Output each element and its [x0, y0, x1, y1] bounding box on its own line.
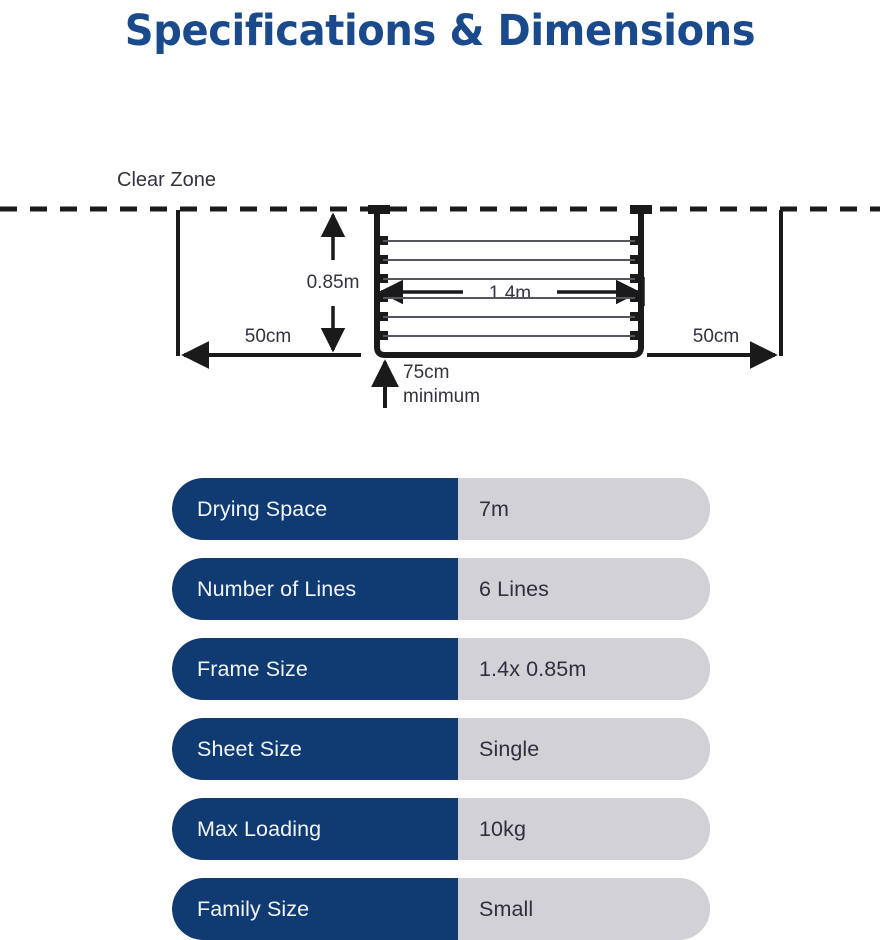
ground-clearance-label-line1: 75cm: [403, 362, 449, 383]
drying-line: [374, 312, 644, 321]
spec-value: Single: [458, 718, 710, 780]
page-title: Specifications & Dimensions: [31, 0, 849, 62]
left-clearance-label: 50cm: [245, 326, 291, 347]
spec-key: Frame Size: [172, 638, 458, 700]
spec-key: Max Loading: [172, 798, 458, 860]
spec-key: Drying Space: [172, 478, 458, 540]
specifications-page: Specifications & Dimensions 1.4m Cl: [0, 0, 880, 940]
spec-value: 6 Lines: [458, 558, 710, 620]
table-row: Family Size Small: [172, 878, 710, 940]
right-clearance-group: 50cm: [647, 326, 775, 355]
table-row: Drying Space 7m: [172, 478, 710, 540]
height-dimension-label: 0.85m: [307, 272, 360, 293]
drying-line: [374, 236, 644, 245]
table-row: Max Loading 10kg: [172, 798, 710, 860]
table-row: Number of Lines 6 Lines: [172, 558, 710, 620]
spec-key: Number of Lines: [172, 558, 458, 620]
drying-line: [374, 274, 644, 283]
ground-clearance-group: 75cm minimum: [385, 362, 480, 408]
right-clearance-label: 50cm: [693, 326, 739, 347]
table-row: Frame Size 1.4x 0.85m: [172, 638, 710, 700]
spec-value: 7m: [458, 478, 710, 540]
spec-key: Sheet Size: [172, 718, 458, 780]
drying-line: [374, 255, 644, 264]
spec-key: Family Size: [172, 878, 458, 940]
spec-value: 10kg: [458, 798, 710, 860]
specifications-table: Drying Space 7m Number of Lines 6 Lines …: [172, 478, 710, 940]
height-dimension-group: 0.85m: [307, 215, 360, 350]
width-dimension-label: 1.4m: [489, 283, 531, 304]
clear-zone-label: Clear Zone: [117, 169, 216, 191]
ground-clearance-label-line2: minimum: [403, 386, 480, 407]
table-row: Sheet Size Single: [172, 718, 710, 780]
spec-value: 1.4x 0.85m: [458, 638, 710, 700]
spec-value: Small: [458, 878, 710, 940]
dimensions-diagram: 1.4m Clear Zone: [0, 120, 880, 440]
drying-line: [374, 331, 644, 340]
width-dimension-group: 1.4m: [376, 277, 643, 306]
